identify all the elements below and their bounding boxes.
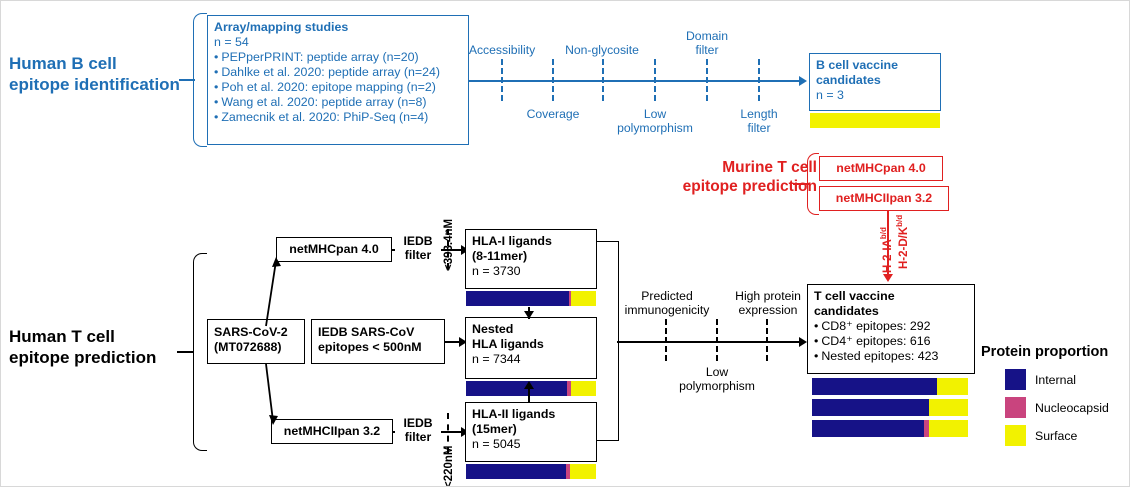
murine-tool-netmhciipan-box: netMHCIIpan 3.2 [819, 186, 949, 211]
list-item: Poh et al. 2020: epitope mapping (n=2) [214, 80, 462, 95]
hla-i-ligands-box: HLA-I ligands (8-11mer) n = 3730 [465, 229, 597, 289]
legend-entries: Internal Nucleocapsid Surface [1005, 369, 1109, 446]
tcell-result-proportion-bar-cd8 [811, 377, 969, 396]
legend-label-internal: Internal [1035, 373, 1076, 387]
legend-swatch-surface [1005, 425, 1026, 446]
legend-item-internal: Internal [1005, 369, 1109, 390]
filter-tick-accessibility [501, 59, 503, 101]
filter-label-predicted-immunogenicity: Predicted immunogenicity [615, 289, 719, 317]
bcell-result-proportion-bar [809, 112, 941, 129]
list-item: CD4⁺ epitopes: 616 [814, 334, 968, 349]
bcell-pipeline-line [469, 80, 801, 82]
proportion-segment-internal [812, 399, 929, 416]
hla-i-proportion-bar [465, 290, 597, 307]
murine-arrow-head [883, 274, 893, 282]
hla-ii-sub: (15mer) [472, 422, 590, 437]
proportion-segment-surface [929, 399, 968, 416]
list-item: Zamecnik et al. 2020: PhiP-Seq (n=4) [214, 110, 462, 125]
allele-name: H-2-IA [882, 239, 894, 273]
proportion-segment-surface [937, 378, 968, 395]
proportion-segment-internal [466, 291, 569, 306]
legend-swatch-nucleocapsid [1005, 397, 1026, 418]
filter-tick-lengthfilter [758, 59, 760, 101]
proportion-segment-internal [466, 381, 567, 396]
hla-ii-proportion-bar [465, 463, 597, 480]
filter-label-accessibility: Accessibility [453, 43, 551, 57]
filter-label-high-protein-expression: High protein expression [723, 289, 813, 317]
proportion-segment-surface [570, 464, 596, 479]
proportion-segment-internal [812, 378, 937, 395]
filter-tick-predicted-immunogenicity [665, 319, 667, 361]
murine-tool-netmhciipan-label: netMHCIIpan 3.2 [820, 187, 948, 210]
list-item: Dahlke et al. 2020: peptide array (n=24) [214, 65, 462, 80]
list-item: Wang et al. 2020: peptide array (n=8) [214, 95, 462, 110]
threshold-label-bottom: <220nM [443, 445, 455, 487]
bcell-result-n: n = 3 [816, 88, 934, 103]
filter-tick-lowpolymorphism [654, 59, 656, 101]
list-item: CD8⁺ epitopes: 292 [814, 319, 968, 334]
filter-label-coverage: Coverage [505, 107, 601, 121]
nested-sub: HLA ligands [472, 337, 590, 352]
filter-tick-high-protein-expression [766, 319, 768, 361]
bcell-result-title: B cell vaccine candidates [816, 58, 934, 88]
tcell-result-title: T cell vaccine candidates [814, 289, 968, 319]
filter-tick-nonglycosite [602, 59, 604, 101]
list-item: PEPperPRINT: peptide array (n=20) [214, 50, 462, 65]
murine-brace-stem [793, 183, 809, 185]
nested-title: Nested [472, 322, 590, 337]
legend-swatch-internal [1005, 369, 1026, 390]
tcell-result-list: CD8⁺ epitopes: 292 CD4⁺ epitopes: 616 Ne… [814, 319, 968, 364]
proportion-segment-surface [810, 113, 940, 128]
ligands-merge-bracket [597, 241, 619, 441]
bcell-pipeline-arrowhead [799, 76, 807, 86]
tcell-section-heading: Human T cell epitope prediction [9, 326, 199, 368]
legend-label-nucleocapsid: Nucleocapsid [1035, 401, 1109, 415]
array-box-list: PEPperPRINT: peptide array (n=20) Dahlke… [214, 50, 462, 125]
proportion-segment-internal [812, 420, 924, 437]
array-box-n: n = 54 [214, 35, 462, 50]
murine-tool-netmhcpan-label: netMHCpan 4.0 [820, 157, 942, 180]
tcell-brace-stem [177, 351, 193, 353]
filter-label-nonglycosite: Non-glycosite [553, 43, 651, 57]
nested-hla-ligands-box: Nested HLA ligands n = 7344 [465, 317, 597, 379]
allele-name: H-2-D/K [898, 227, 910, 269]
bcell-vaccine-candidates-box: B cell vaccine candidates n = 3 [809, 53, 941, 111]
bcell-brace [193, 13, 207, 147]
allele-superscript: b/d [879, 227, 888, 239]
hla-ii-ligands-box: HLA-II ligands (15mer) n = 5045 [465, 402, 597, 462]
list-item: Nested epitopes: 423 [814, 349, 968, 364]
tcell-pipeline-arrowhead [799, 337, 807, 347]
murine-tool-netmhcpan-box: netMHCpan 4.0 [819, 156, 943, 181]
hlaII-to-nested-arrowhead [524, 381, 534, 389]
murine-section-heading: Murine T cell epitope prediction [647, 158, 817, 196]
nested-n: n = 7344 [472, 352, 590, 367]
filter-tick-coverage [552, 59, 554, 101]
legend-title: Protein proportion [981, 344, 1108, 360]
murine-allele-label-mhc2: H-2-IAb/d [879, 227, 894, 273]
legend-label-surface: Surface [1035, 429, 1077, 443]
filter-tick-low-polymorphism-tcell [716, 319, 718, 361]
legend-item-nucleocapsid: Nucleocapsid [1005, 397, 1109, 418]
filter-label-low-polymorphism-tcell: Low polymorphism [669, 365, 765, 393]
array-mapping-studies-box: Array/mapping studies n = 54 PEPperPRINT… [207, 15, 469, 145]
hla-i-sub: (8-11mer) [472, 249, 590, 264]
allele-superscript: b/d [895, 215, 904, 227]
hla-i-n: n = 3730 [472, 264, 590, 279]
filter-label-low-polymorphism: Low polymorphism [601, 107, 709, 135]
tcell-result-proportion-bar-cd4 [811, 398, 969, 417]
array-box-title: Array/mapping studies [214, 20, 462, 35]
diagram-canvas: Human B cell epitope identification Arra… [0, 0, 1130, 487]
threshold-label-top: <393.4nM [443, 219, 455, 271]
murine-allele-label-mhc1: H-2-D/Kb/d [895, 215, 910, 269]
hla-ii-title: HLA-II ligands [472, 407, 590, 422]
bcell-brace-stem [179, 79, 195, 81]
tcell-result-proportion-bar-nested [811, 419, 969, 438]
filter-label-domain-filter: Domain filter [671, 29, 743, 57]
filter-tick-domainfilter [706, 59, 708, 101]
bcell-section-heading: Human B cell epitope identification [9, 53, 194, 95]
legend-item-surface: Surface [1005, 425, 1109, 446]
proportion-segment-internal [466, 464, 566, 479]
tcell-pipeline-line [617, 341, 803, 343]
proportion-segment-surface [571, 381, 596, 396]
proportion-segment-surface [571, 291, 596, 306]
proportion-segment-surface [929, 420, 968, 437]
iedb-filter-label-bottom: IEDB filter [395, 416, 441, 444]
hla-i-title: HLA-I ligands [472, 234, 590, 249]
tcell-vaccine-candidates-box: T cell vaccine candidates CD8⁺ epitopes:… [807, 284, 975, 374]
iedb-filter-label-top: IEDB filter [395, 234, 441, 262]
filter-label-length-filter: Length filter [723, 107, 795, 135]
hlaI-to-nested-arrowhead [524, 311, 534, 319]
hla-ii-n: n = 5045 [472, 437, 590, 452]
